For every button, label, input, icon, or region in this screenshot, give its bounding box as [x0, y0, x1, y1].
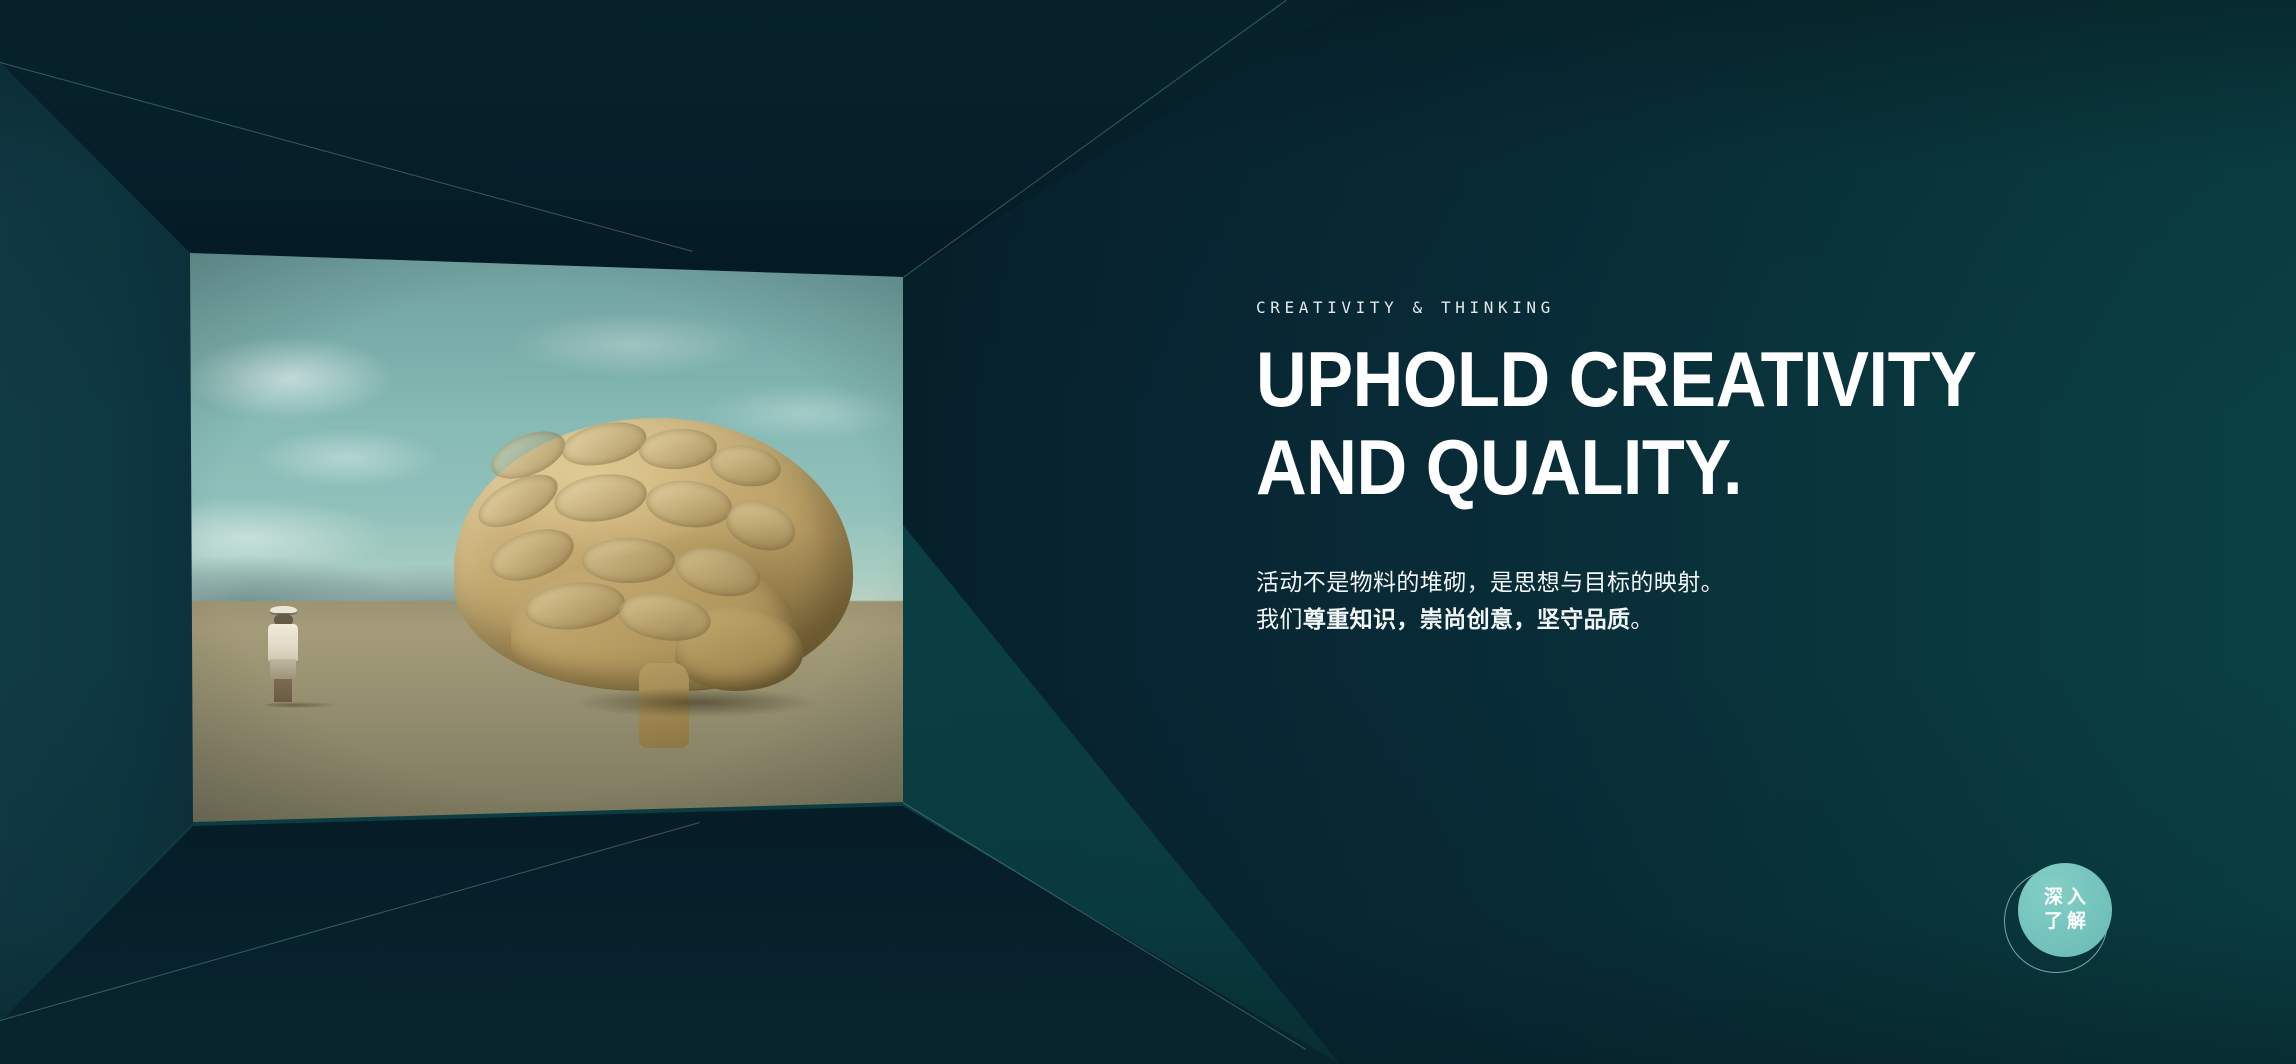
brain-scene-image: [190, 253, 903, 822]
cta-label-line-1: 深入: [2040, 886, 2090, 910]
person-shirt: [268, 624, 298, 661]
description-line-2-suffix: 。: [1630, 606, 1653, 632]
description-line-2: 我们尊重知识，崇尚创意，坚守品质。: [1256, 601, 2156, 638]
learn-more-cta[interactable]: 深入 了解: [2004, 855, 2130, 973]
hero-copy-block: CREATIVITY & THINKING UPHOLD CREATIVITY …: [1256, 300, 2156, 638]
hero-image-frame: [190, 253, 903, 822]
description-line-2-prefix: 我们: [1256, 606, 1303, 632]
person-shorts: [270, 659, 297, 680]
description-line-2-emphasis: 尊重知识，崇尚创意，坚守品质: [1303, 606, 1631, 632]
eyebrow-label: CREATIVITY & THINKING: [1256, 300, 2156, 316]
hero-description: 活动不是物料的堆砌，是思想与目标的映射。 我们尊重知识，崇尚创意，坚守品质。: [1256, 564, 2156, 639]
person-legs: [274, 679, 291, 702]
page-title-line-2: AND QUALITY.: [1256, 432, 2066, 504]
page-title-line-1: UPHOLD CREATIVITY: [1256, 344, 2066, 416]
cta-label-line-2: 了解: [2040, 910, 2090, 934]
description-line-1: 活动不是物料的堆砌，是思想与目标的映射。: [1256, 564, 2156, 601]
brain-ground-shadow: [575, 688, 817, 716]
description-line-1-text: 活动不是物料的堆砌，是思想与目标的映射。: [1256, 569, 1724, 595]
person-ground-shadow: [266, 702, 336, 709]
cta-button[interactable]: 深入 了解: [2018, 863, 2112, 957]
person-figure: [265, 606, 302, 703]
hero-stage: CREATIVITY & THINKING UPHOLD CREATIVITY …: [0, 0, 2296, 1064]
